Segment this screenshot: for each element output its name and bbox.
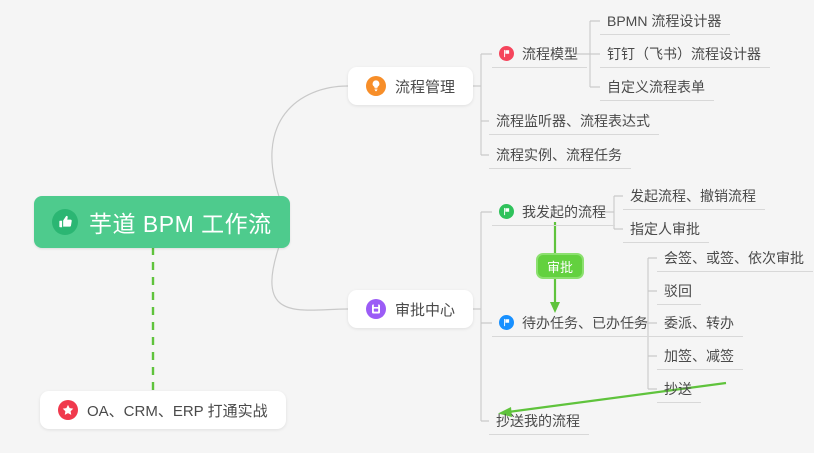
flag-green-icon	[499, 204, 514, 219]
node-start-cancel-process-label: 发起流程、撤销流程	[630, 186, 756, 206]
node-process-listener-expression-label: 流程监听器、流程表达式	[496, 111, 650, 131]
root-node[interactable]: 芋道 BPM 工作流	[34, 196, 290, 248]
node-assignee-approval-label: 指定人审批	[630, 219, 700, 239]
node-cc-my-process[interactable]: 抄送我的流程	[489, 407, 589, 435]
node-start-cancel-process[interactable]: 发起流程、撤销流程	[623, 182, 765, 210]
node-custom-process-form[interactable]: 自定义流程表单	[600, 73, 714, 101]
node-countersign-orsign-sequential[interactable]: 会签、或签、依次审批	[657, 244, 813, 272]
edge-dashed-oa-to-root	[149, 238, 158, 390]
node-process-model[interactable]: 流程模型	[492, 40, 587, 68]
node-my-started-process[interactable]: 我发起的流程	[492, 198, 615, 226]
node-dingtalk-feishu-designer[interactable]: 钉钉（飞书）流程设计器	[600, 40, 770, 68]
root-label: 芋道 BPM 工作流	[89, 205, 272, 239]
node-reject[interactable]: 驳回	[657, 277, 701, 305]
star-red-icon	[58, 400, 78, 420]
node-delegate-transfer-label: 委派、转办	[664, 313, 734, 333]
branch-process-management[interactable]: 流程管理	[348, 67, 473, 105]
edge-root-to-approval-center	[272, 238, 348, 310]
flag-red-icon	[499, 46, 514, 61]
branch-approval-center-label: 审批中心	[395, 299, 455, 320]
approval-tag-label: 审批	[547, 257, 573, 276]
mindmap-canvas: 芋道 BPM 工作流 流程管理 流程模型 BPMN 流程设计器 钉钉（飞书）流程	[0, 0, 814, 453]
node-my-started-process-label: 我发起的流程	[522, 202, 606, 222]
node-assignee-approval[interactable]: 指定人审批	[623, 215, 709, 243]
approval-tag: 审批	[536, 253, 584, 279]
flag-blue-icon	[499, 315, 514, 330]
node-add-remove-sign-label: 加签、减签	[664, 346, 734, 366]
branch-approval-center[interactable]: 审批中心	[348, 290, 473, 328]
node-delegate-transfer[interactable]: 委派、转办	[657, 309, 743, 337]
free-node-oa-crm-erp-label: OA、CRM、ERP 打通实战	[87, 400, 268, 421]
lightbulb-icon	[366, 76, 386, 96]
thumbs-up-icon	[52, 209, 78, 235]
node-carbon-copy-label: 抄送	[664, 379, 692, 399]
node-bpmn-designer-label: BPMN 流程设计器	[607, 11, 721, 31]
node-custom-process-form-label: 自定义流程表单	[607, 77, 705, 97]
free-node-oa-crm-erp[interactable]: OA、CRM、ERP 打通实战	[40, 391, 286, 429]
document-purple-icon	[366, 299, 386, 319]
node-dingtalk-feishu-designer-label: 钉钉（飞书）流程设计器	[607, 44, 761, 64]
node-countersign-orsign-sequential-label: 会签、或签、依次审批	[664, 248, 804, 268]
node-todo-done-task[interactable]: 待办任务、已办任务	[492, 309, 657, 337]
node-reject-label: 驳回	[664, 281, 692, 301]
node-process-model-label: 流程模型	[522, 44, 578, 64]
node-carbon-copy[interactable]: 抄送	[657, 375, 701, 403]
node-process-listener-expression[interactable]: 流程监听器、流程表达式	[489, 107, 659, 135]
node-cc-my-process-label: 抄送我的流程	[496, 411, 580, 431]
node-todo-done-task-label: 待办任务、已办任务	[522, 313, 648, 333]
node-add-remove-sign[interactable]: 加签、减签	[657, 342, 743, 370]
edge-root-to-process-management	[272, 86, 348, 205]
node-process-instance-task-label: 流程实例、流程任务	[496, 145, 622, 165]
node-process-instance-task[interactable]: 流程实例、流程任务	[489, 141, 631, 169]
node-bpmn-designer[interactable]: BPMN 流程设计器	[600, 7, 730, 35]
branch-process-management-label: 流程管理	[395, 76, 455, 97]
